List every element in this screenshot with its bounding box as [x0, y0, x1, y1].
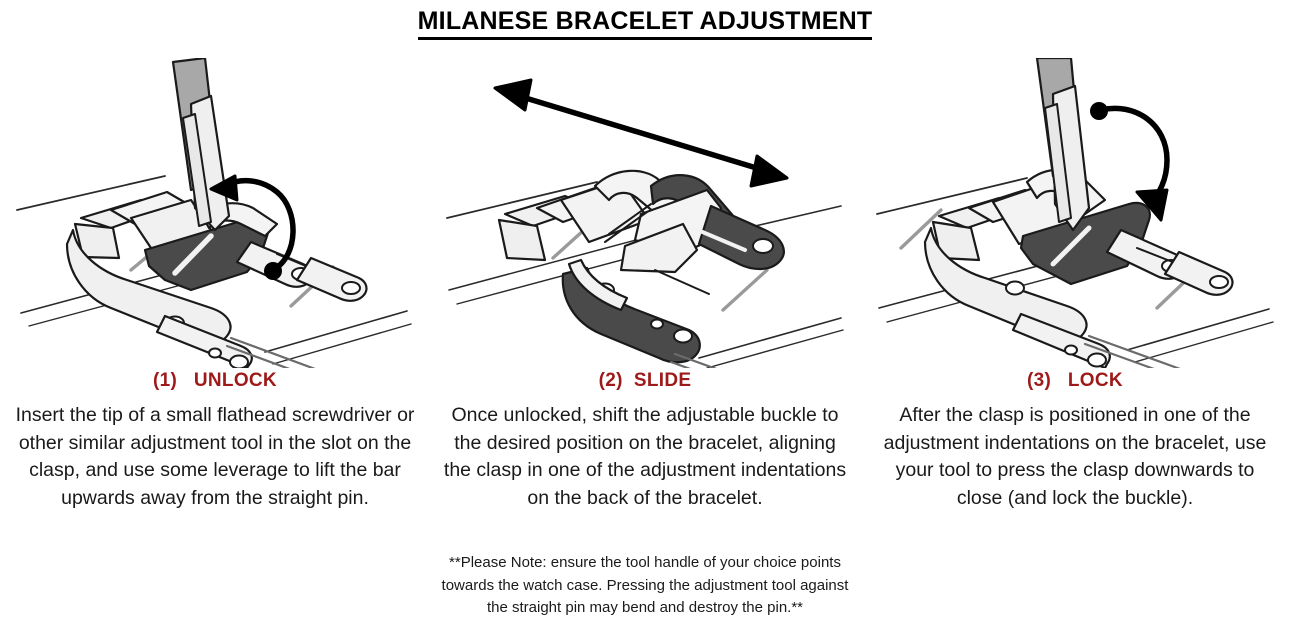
step-column-unlock: (1) UNLOCK Insert the tip of a small fla…	[0, 58, 430, 513]
footnote: **Please Note: ensure the tool handle of…	[0, 552, 1290, 620]
page-title-container: MILANESE BRACELET ADJUSTMENT	[0, 8, 1290, 40]
footnote-line-2: towards the watch case. Pressing the adj…	[0, 575, 1290, 598]
step-body-slide: Once unlocked, shift the adjustable buck…	[439, 402, 851, 513]
page-title: MILANESE BRACELET ADJUSTMENT	[418, 8, 873, 40]
footnote-line-1: **Please Note: ensure the tool handle of…	[0, 552, 1290, 575]
footnote-line-3: the straight pin may bend and destroy th…	[0, 597, 1290, 620]
slide-illustration	[445, 58, 845, 368]
slide-arrow-double	[495, 80, 787, 186]
step-label-slide: (2) SLIDE	[599, 370, 692, 392]
step-body-unlock: Insert the tip of a small flathead screw…	[5, 402, 425, 513]
lock-illustration	[875, 58, 1275, 368]
step-label-unlock: (1) UNLOCK	[153, 370, 277, 392]
step-column-slide: (2) SLIDE Once unlocked, shift the adjus…	[430, 58, 860, 513]
step-column-lock: (3) LOCK After the clasp is positioned i…	[860, 58, 1290, 513]
instruction-sheet: MILANESE BRACELET ADJUSTMENT	[0, 0, 1290, 628]
steps-row: (1) UNLOCK Insert the tip of a small fla…	[0, 58, 1290, 513]
unlock-illustration	[15, 58, 415, 368]
step-label-lock: (3) LOCK	[1027, 370, 1123, 392]
step-body-lock: After the clasp is positioned in one of …	[873, 402, 1277, 513]
